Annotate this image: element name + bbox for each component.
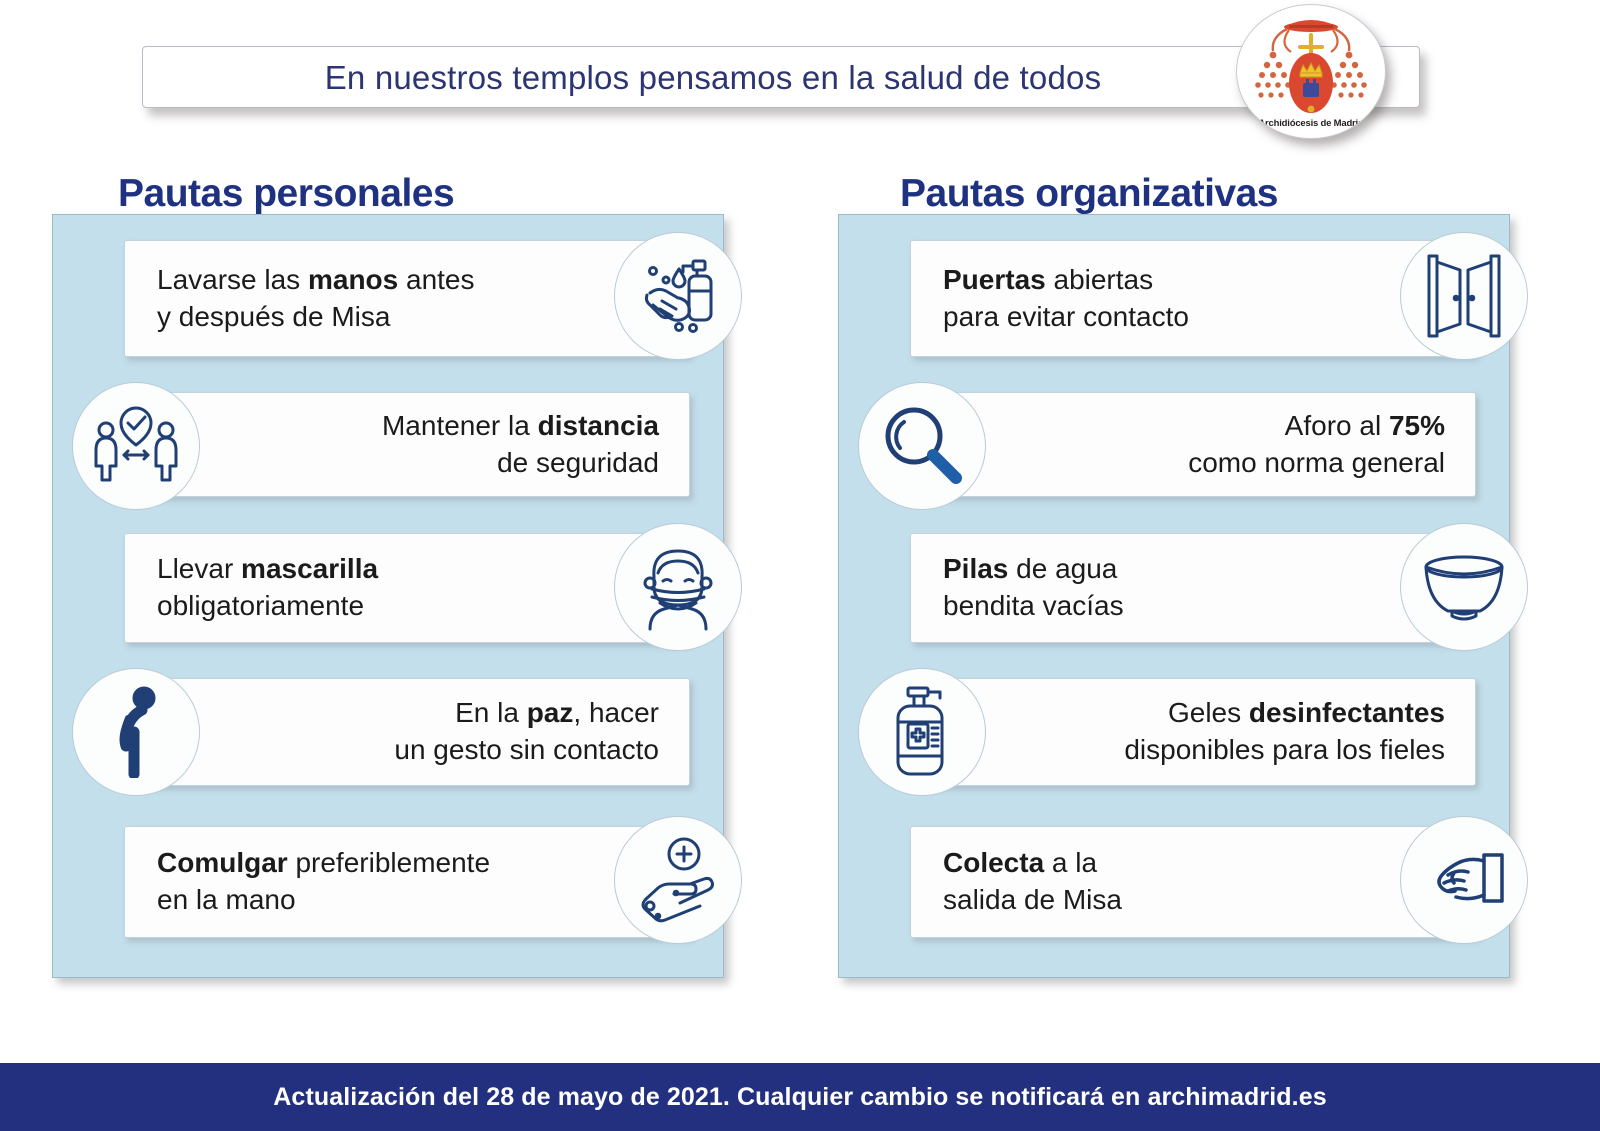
guideline-word: de seguridad: [497, 447, 659, 478]
guideline-card-line: en la mano: [157, 882, 490, 919]
guideline-card-line: Pilas de agua: [943, 551, 1124, 588]
guideline-keyword: distancia: [538, 410, 659, 441]
guideline-word: Geles: [1168, 697, 1249, 728]
guideline-card-line: un gesto sin contacto: [394, 732, 659, 769]
face-mask-icon: [636, 543, 720, 631]
guideline-card-text: Comulgar preferiblementeen la mano: [125, 845, 490, 919]
guideline-card-line: Aforo al 75%: [1188, 408, 1445, 445]
handwashing-icon: [635, 253, 721, 339]
guideline-card-text: Aforo al 75%como norma general: [1188, 408, 1475, 482]
guideline-card-line: Llevar mascarilla: [157, 551, 378, 588]
guideline-card: Colecta a lasalida de Misa: [910, 826, 1476, 938]
guideline-word: , hacer: [573, 697, 659, 728]
guideline-word: para evitar contacto: [943, 301, 1189, 332]
guideline-keyword: paz: [527, 697, 574, 728]
guideline-card: Geles desinfectantesdisponibles para los…: [910, 678, 1476, 786]
guideline-word: en la mano: [157, 884, 296, 915]
guideline-word: Llevar: [157, 553, 241, 584]
guideline-card-text: En la paz, hacerun gesto sin contacto: [394, 695, 689, 769]
guideline-card-line: Mantener la distancia: [382, 408, 659, 445]
magnifying-glass-icon-circle: [858, 382, 986, 510]
guideline-card-line: Geles desinfectantes: [1124, 695, 1445, 732]
guideline-word: disponibles para los fieles: [1124, 734, 1445, 765]
guideline-card: Aforo al 75%como norma general: [910, 392, 1476, 497]
guideline-card-line: En la paz, hacer: [394, 695, 659, 732]
guideline-card-line: salida de Misa: [943, 882, 1122, 919]
open-doors-icon: [1425, 252, 1503, 340]
magnifying-glass-icon: [880, 404, 964, 488]
guideline-word: Mantener la: [382, 410, 538, 441]
guideline-card: Pilas de aguabendita vacías: [910, 533, 1476, 643]
bowing-person-icon: [106, 686, 166, 778]
guideline-keyword: 75%: [1389, 410, 1445, 441]
guideline-keyword: Pilas: [943, 553, 1008, 584]
guideline-card-line: y después de Misa: [157, 299, 475, 336]
guideline-card-line: como norma general: [1188, 445, 1445, 482]
guideline-card-line: para evitar contacto: [943, 299, 1189, 336]
archdiocese-of-madrid-coat-of-arms-logo: Archidiócesis de Madrid: [1236, 4, 1386, 139]
communion-in-hand-icon-circle: [614, 816, 742, 944]
guideline-card-text: Lavarse las manos antesy después de Misa: [125, 262, 475, 336]
guideline-card-text: Geles desinfectantesdisponibles para los…: [1124, 695, 1475, 769]
guideline-card: Lavarse las manos antesy después de Misa: [124, 240, 690, 357]
guideline-keyword: mascarilla: [241, 553, 378, 584]
guideline-word: de agua: [1008, 553, 1117, 584]
guideline-word: bendita vacías: [943, 590, 1124, 621]
guideline-word: antes: [398, 264, 474, 295]
guideline-card: Llevar mascarillaobligatoriamente: [124, 533, 690, 643]
sanitizer-bottle-icon-circle: [858, 668, 986, 796]
page-title: En nuestros templos pensamos en la salud…: [143, 47, 1283, 109]
guideline-keyword: manos: [308, 264, 398, 295]
guideline-word: En la: [455, 697, 527, 728]
guideline-card-line: Comulgar preferiblemente: [157, 845, 490, 882]
guideline-keyword: Puertas: [943, 264, 1046, 295]
guideline-card-text: Colecta a lasalida de Misa: [911, 845, 1122, 919]
guideline-word: Aforo al: [1285, 410, 1389, 441]
holy-water-font-icon-circle: [1400, 523, 1528, 651]
guideline-card-text: Pilas de aguabendita vacías: [911, 551, 1124, 625]
social-distance-icon-circle: [72, 382, 200, 510]
holy-water-font-icon: [1420, 551, 1508, 623]
header-title-bar: En nuestros templos pensamos en la salud…: [142, 46, 1420, 108]
guideline-word: preferiblemente: [288, 847, 490, 878]
guideline-card-line: Puertas abiertas: [943, 262, 1189, 299]
handwashing-icon-circle: [614, 232, 742, 360]
collection-hand-icon: [1420, 847, 1508, 913]
guideline-word: y después de Misa: [157, 301, 390, 332]
guideline-keyword: Colecta: [943, 847, 1044, 878]
guideline-card-text: Llevar mascarillaobligatoriamente: [125, 551, 378, 625]
footer-update-text: Actualización del 28 de mayo de 2021. Cu…: [273, 1083, 1326, 1112]
social-distance-icon: [92, 404, 180, 488]
sanitizer-bottle-icon: [886, 686, 958, 778]
guideline-card-line: disponibles para los fieles: [1124, 732, 1445, 769]
guideline-word: a la: [1044, 847, 1097, 878]
collection-hand-icon-circle: [1400, 816, 1528, 944]
guideline-word: abiertas: [1046, 264, 1153, 295]
logo-caption: Archidiócesis de Madrid: [1237, 118, 1385, 129]
guideline-word: Lavarse las: [157, 264, 308, 295]
footer-update-bar: Actualización del 28 de mayo de 2021. Cu…: [0, 1063, 1600, 1131]
guideline-card: Comulgar preferiblementeen la mano: [124, 826, 690, 938]
bowing-person-icon-circle: [72, 668, 200, 796]
guideline-keyword: Comulgar: [157, 847, 288, 878]
guideline-word: obligatoriamente: [157, 590, 364, 621]
guideline-card-line: de seguridad: [382, 445, 659, 482]
open-doors-icon-circle: [1400, 232, 1528, 360]
communion-in-hand-icon: [634, 837, 722, 923]
guideline-card-line: Colecta a la: [943, 845, 1122, 882]
guideline-word: como norma general: [1188, 447, 1445, 478]
guideline-card-line: Lavarse las manos antes: [157, 262, 475, 299]
guideline-card-text: Mantener la distanciade seguridad: [382, 408, 689, 482]
guideline-card-text: Puertas abiertaspara evitar contacto: [911, 262, 1189, 336]
guideline-card: Mantener la distanciade seguridad: [124, 392, 690, 497]
guideline-word: salida de Misa: [943, 884, 1122, 915]
face-mask-icon-circle: [614, 523, 742, 651]
guideline-card-line: bendita vacías: [943, 588, 1124, 625]
guideline-card-line: obligatoriamente: [157, 588, 378, 625]
guideline-keyword: desinfectantes: [1249, 697, 1445, 728]
guideline-card: Puertas abiertaspara evitar contacto: [910, 240, 1476, 357]
guideline-card: En la paz, hacerun gesto sin contacto: [124, 678, 690, 786]
column-heading-organizational: Pautas organizativas: [900, 172, 1278, 216]
column-heading-personal: Pautas personales: [118, 172, 454, 216]
guideline-word: un gesto sin contacto: [394, 734, 659, 765]
